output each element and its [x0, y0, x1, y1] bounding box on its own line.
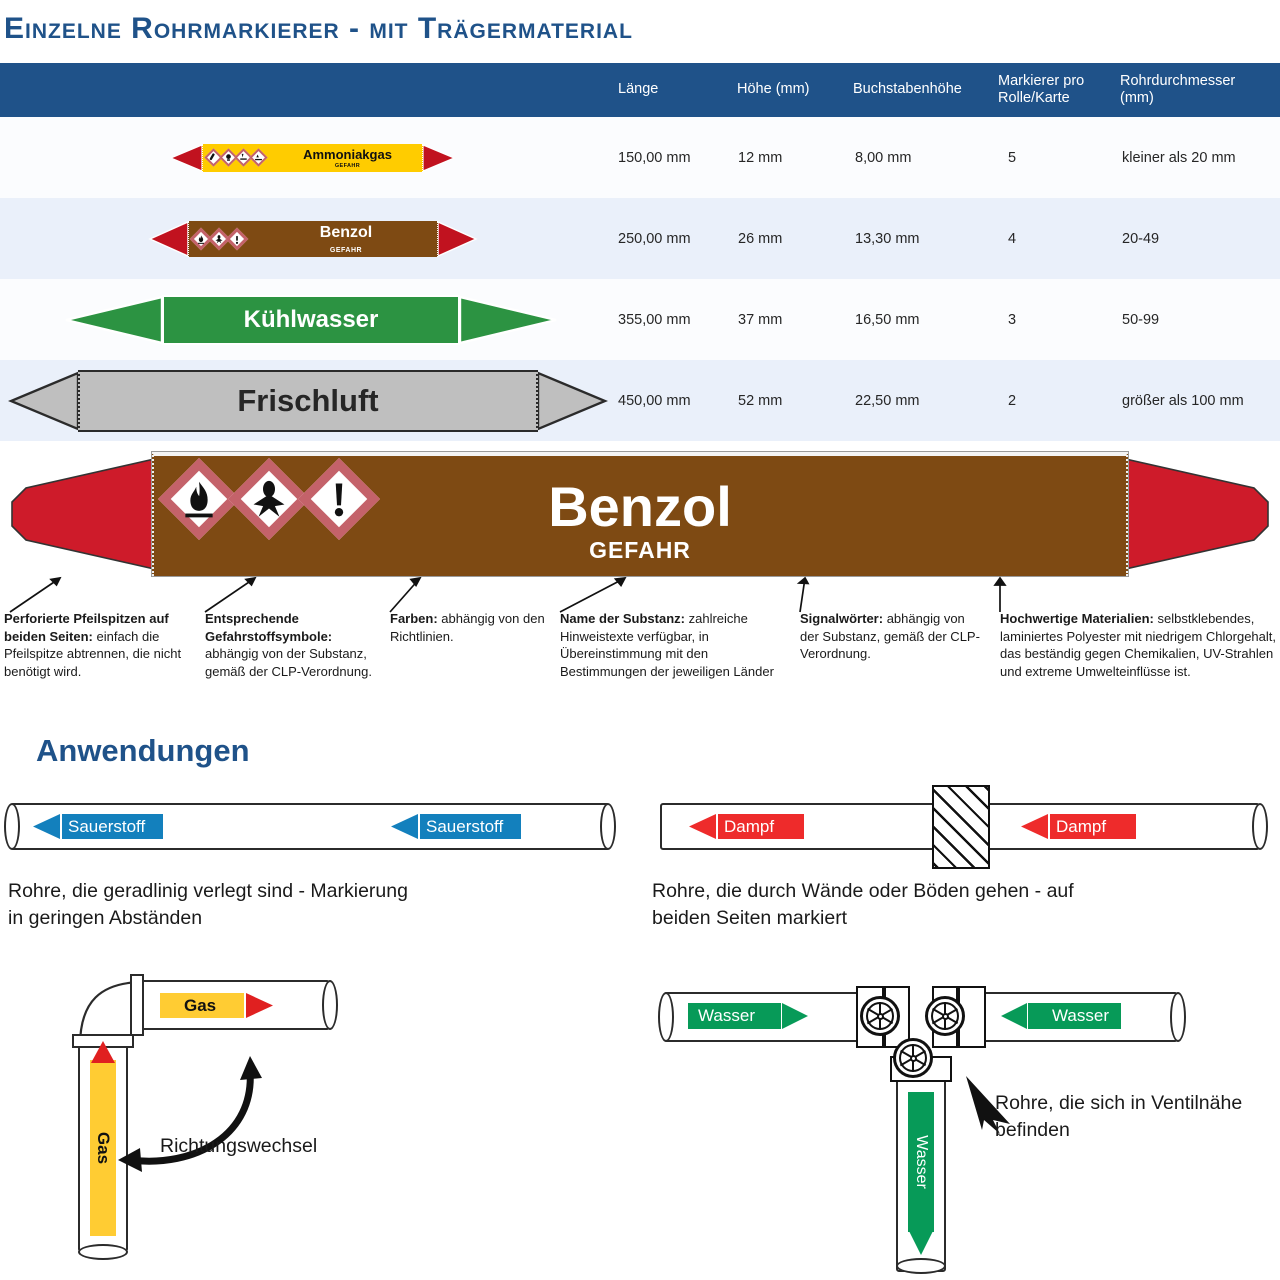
table-row: Ammoniakgas GEFAHR 150,00 mm 12 mm 8,00 … — [0, 117, 1280, 198]
valve-handwheel-right — [925, 996, 965, 1036]
column-header-laenge: Länge — [618, 81, 658, 98]
cell-markierer-pro-rolle: 3 — [1008, 312, 1016, 328]
pipe-end-right — [600, 803, 616, 850]
tag-arrow-down — [908, 1230, 934, 1256]
annotation-hochwertige-materialien: Hochwertige Materialien: selbstklebendes… — [1000, 610, 1278, 680]
cell-rohrdurchmesser: 50-99 — [1122, 312, 1159, 328]
marker-label: Benzol — [189, 224, 437, 242]
marker-label: Ammoniakgas — [203, 147, 422, 162]
tag-label: Wasser — [912, 1135, 930, 1189]
annotation-title: Name der Substanz: — [560, 611, 685, 626]
marker-tag-dampf-1: Dampf — [688, 814, 804, 839]
cell-hoehe: 12 mm — [738, 150, 782, 166]
marker-tag-wasser-left: Wasser — [688, 1003, 809, 1029]
pipe-marker-benzol: Benzol GEFAHR — [148, 221, 478, 257]
marker-signal-word: GEFAHR — [203, 163, 422, 169]
column-header-hoehe: Höhe (mm) — [737, 81, 810, 98]
hero-right-arrowhead — [1106, 452, 1276, 576]
cell-hoehe: 52 mm — [738, 393, 782, 409]
pipe-collar-horizontal — [130, 974, 144, 1036]
annotation-title: Hochwertige Materialien: — [1000, 611, 1154, 626]
cell-buchstabenhoehe: 13,30 mm — [855, 231, 919, 247]
pipe-end-left — [658, 992, 674, 1042]
annotation-title: Entsprechende Gefahrstoffsymbole: — [205, 611, 332, 644]
valve-handwheel-left — [860, 996, 900, 1036]
annotation-name-der-substanz: Name der Substanz: zahlreiche Hinweistex… — [560, 610, 778, 680]
table-header-row: Länge Höhe (mm) Buchstabenhöhe Markierer… — [0, 63, 1280, 117]
application-caption-straight: Rohre, die geradlinig verlegt sind - Mar… — [8, 878, 428, 932]
column-header-buchstabenhoehe: Buchstabenhöhe — [853, 81, 962, 98]
direction-change-arrow — [100, 1030, 310, 1190]
annotation-gefahrstoffsymbole: Entsprechende Gefahrstoffsymbole: abhäng… — [205, 610, 375, 680]
pipe-end-bottom — [78, 1244, 128, 1260]
wall-section — [932, 785, 990, 869]
tag-label: Dampf — [1050, 817, 1136, 837]
annotation-signalwoerter: Signalwörter: abhängig von der Substanz,… — [800, 610, 980, 663]
tag-label: Wasser — [1028, 1006, 1121, 1026]
cell-buchstabenhoehe: 22,50 mm — [855, 393, 919, 409]
cell-rohrdurchmesser: größer als 100 mm — [1122, 393, 1244, 409]
cell-markierer-pro-rolle: 2 — [1008, 393, 1016, 409]
pipe-end-right — [1252, 803, 1268, 850]
pipe-marker-ammoniakgas: Ammoniakgas GEFAHR — [170, 144, 455, 172]
table-row: Benzol GEFAHR 250,00 mm 26 mm 13,30 mm 4… — [0, 198, 1280, 279]
cell-markierer-pro-rolle: 4 — [1008, 231, 1016, 247]
pipe-end-bottom — [896, 1258, 946, 1274]
page-title: Einzelne Rohrmarkierer - mit Trägermater… — [4, 12, 633, 46]
cell-markierer-pro-rolle: 5 — [1008, 150, 1016, 166]
hero-marker-body: Benzol GEFAHR — [152, 452, 1128, 576]
table-row: Frischluft 450,00 mm 52 mm 22,50 mm 2 gr… — [0, 360, 1280, 441]
application-caption-direction: Richtungswechsel — [160, 1133, 400, 1160]
marker-label: Kühlwasser — [164, 306, 458, 334]
table-row: Kühlwasser 355,00 mm 37 mm 16,50 mm 3 50… — [0, 279, 1280, 360]
cell-laenge: 150,00 mm — [618, 150, 691, 166]
cell-buchstabenhoehe: 8,00 mm — [855, 150, 911, 166]
cell-hoehe: 37 mm — [738, 312, 782, 328]
cell-laenge: 450,00 mm — [618, 393, 691, 409]
section-heading-anwendungen: Anwendungen — [36, 733, 250, 769]
annotation-title: Signalwörter: — [800, 611, 883, 626]
tag-label: Wasser — [688, 1006, 781, 1026]
annotation-farben: Farben: abhängig von den Richtlinien. — [390, 610, 550, 645]
cell-buchstabenhoehe: 16,50 mm — [855, 312, 919, 328]
valve-handwheel-bottom — [893, 1038, 933, 1078]
pipe-end-left — [4, 803, 20, 850]
hero-marker-label: Benzol — [154, 474, 1126, 539]
marker-signal-word: GEFAHR — [189, 247, 437, 254]
marker-tag-sauerstoff-1: Sauerstoff — [32, 814, 163, 839]
tag-label: Sauerstoff — [62, 817, 163, 837]
marker-label: Frischluft — [80, 383, 536, 419]
tag-label: Sauerstoff — [420, 817, 521, 837]
cell-laenge: 250,00 mm — [618, 231, 691, 247]
marker-tag-gas-horizontal: Gas — [160, 993, 274, 1018]
cell-laenge: 355,00 mm — [618, 312, 691, 328]
pipe-end-right — [1170, 992, 1186, 1042]
annotation-body: abhängig von der Substanz, gemäß der CLP… — [205, 646, 372, 679]
tag-label: Gas — [160, 996, 244, 1016]
marker-tag-sauerstoff-2: Sauerstoff — [390, 814, 521, 839]
annotation-perforierte-pfeilspitzen: Perforierte Pfeilspitzen auf beiden Seit… — [4, 610, 192, 680]
specifications-table: Länge Höhe (mm) Buchstabenhöhe Markierer… — [0, 63, 1280, 441]
column-header-markierer-pro-rolle: Markierer pro Rolle/Karte — [998, 73, 1103, 107]
pipe-marker-frischluft: Frischluft — [8, 370, 608, 432]
application-caption-wall: Rohre, die durch Wände oder Böden gehen … — [652, 878, 1122, 932]
application-caption-valve: Rohre, die sich in Ventilnähe befinden — [995, 1090, 1255, 1144]
cell-rohrdurchmesser: 20-49 — [1122, 231, 1159, 247]
pipe-marker-kuehlwasser: Kühlwasser — [62, 295, 560, 345]
hero-left-arrowhead — [4, 452, 174, 576]
pipe-end-right — [322, 980, 338, 1030]
annotation-title: Farben: — [390, 611, 438, 626]
tag-label: Dampf — [718, 817, 804, 837]
marker-tag-wasser-right: Wasser — [1000, 1003, 1121, 1029]
cell-hoehe: 26 mm — [738, 231, 782, 247]
column-header-rohrdurchmesser: Rohrdurchmesser (mm) — [1120, 73, 1270, 107]
marker-tag-dampf-2: Dampf — [1020, 814, 1136, 839]
cell-rohrdurchmesser: kleiner als 20 mm — [1122, 150, 1236, 166]
marker-tag-wasser-vertical: Wasser — [908, 1092, 934, 1232]
